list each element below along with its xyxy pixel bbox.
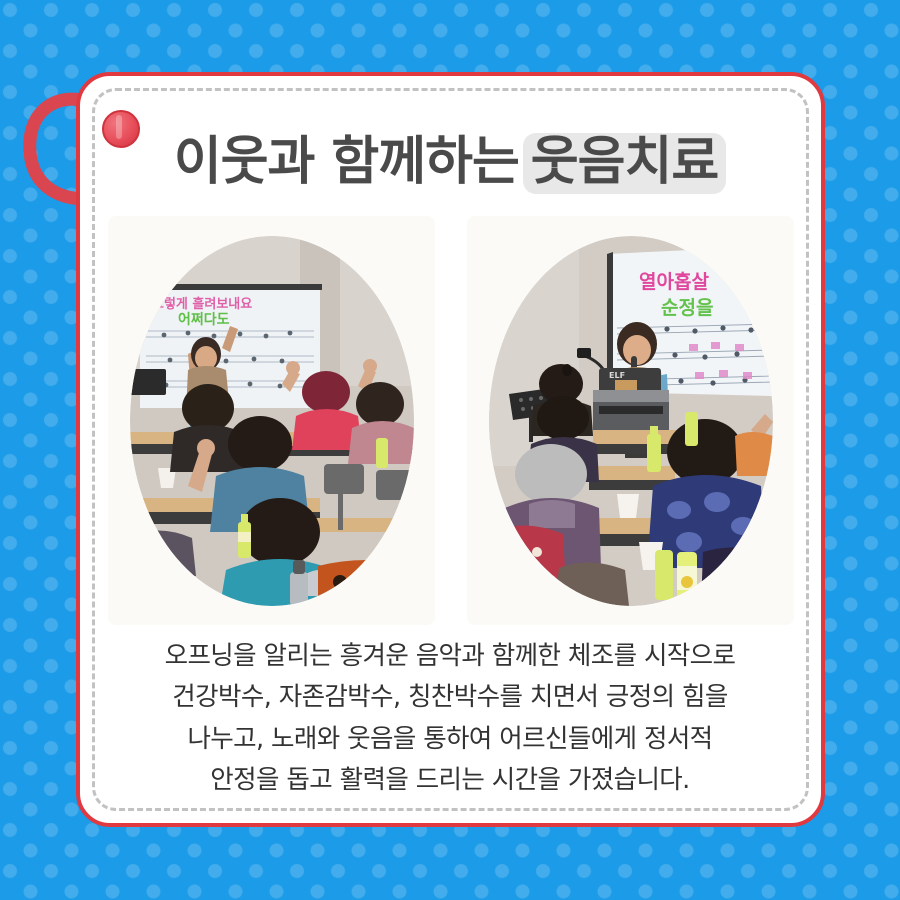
photo-right-illustration: 열아홉살 순정을 (489, 236, 773, 606)
photo-left: 그렇게 흘려보내요 어쩌다도 (130, 236, 414, 606)
photo-right: 열아홉살 순정을 (489, 236, 773, 606)
svg-text:열아홉살: 열아홉살 (639, 270, 709, 293)
poster-canvas: 이웃과 함께하는 웃음치료 (0, 0, 900, 900)
caption-line-3: 나누고, 노래와 웃음을 통하여 어르신들에게 정서적 (90, 719, 810, 760)
caption-block: 오프닝을 알리는 흥겨운 음악과 함께한 체조를 시작으로 건강박수, 자존감박… (90, 636, 810, 801)
photo-gallery: 그렇게 흘려보내요 어쩌다도 (108, 216, 794, 625)
svg-text:그렇게 흘려보내요: 그렇게 흘려보내요 (152, 296, 252, 312)
svg-text:ELF: ELF (609, 371, 625, 380)
caption-line-2: 건강박수, 자존감박수, 칭찬박수를 치면서 긍정의 힘을 (90, 677, 810, 718)
title-highlight-text: 웃음치료 (523, 133, 726, 194)
photo-frame-right: 열아홉살 순정을 (467, 216, 794, 625)
caption-line-1: 오프닝을 알리는 흥겨운 음악과 함께한 체조를 시작으로 (90, 636, 810, 677)
svg-text:어쩌다도: 어쩌다도 (178, 311, 230, 328)
photo-left-illustration: 그렇게 흘려보내요 어쩌다도 (130, 236, 414, 606)
caption-line-4: 안정을 돕고 활력을 드리는 시간을 가졌습니다. (90, 760, 810, 801)
title-plain-text: 이웃과 함께하는 (174, 135, 519, 190)
photo-frame-left: 그렇게 흘려보내요 어쩌다도 (108, 216, 435, 625)
page-title: 이웃과 함께하는 웃음치료 (0, 133, 900, 194)
svg-text:순정을: 순정을 (661, 297, 713, 319)
